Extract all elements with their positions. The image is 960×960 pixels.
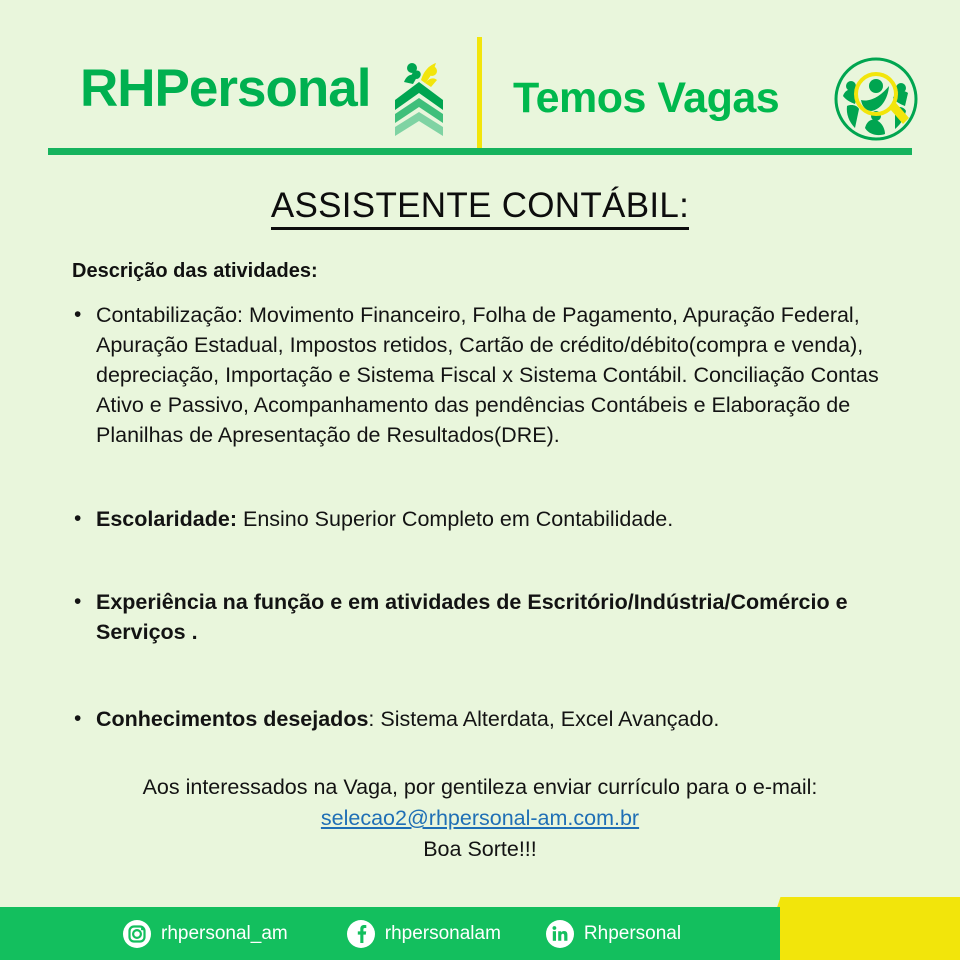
- social-link-facebook[interactable]: rhpersonalam: [346, 919, 501, 949]
- list-item-body: Ensino Superior Completo em Contabilidad…: [237, 507, 673, 531]
- page-title-text: ASSISTENTE CONTÁBIL:: [271, 186, 689, 230]
- list-item-text: Experiência na função e em atividades de…: [96, 587, 890, 647]
- social-links: rhpersonal_am rhpersonalam Rhpersona: [0, 907, 760, 960]
- list-item: • Experiência na função e em atividades …: [70, 587, 890, 647]
- social-handle-facebook: rhpersonalam: [385, 923, 501, 945]
- bullet-marker: •: [70, 300, 96, 330]
- footer-accent-shape: [760, 897, 960, 960]
- list-item-text: Contabilização: Movimento Financeiro, Fo…: [96, 300, 890, 450]
- list-item: • Conhecimentos desejados: Sistema Alter…: [70, 704, 890, 734]
- social-link-instagram[interactable]: rhpersonal_am: [122, 919, 288, 949]
- linkedin-icon: [545, 919, 575, 949]
- page-title: ASSISTENTE CONTÁBIL:: [0, 186, 960, 226]
- list-item-lead: Experiência na função e em atividades de…: [96, 590, 848, 644]
- list-item-body: : Sistema Alterdata, Excel Avançado.: [368, 707, 719, 731]
- social-handle-instagram: rhpersonal_am: [161, 923, 288, 945]
- header-rule: [48, 148, 912, 155]
- bullet-marker: •: [70, 587, 96, 617]
- facebook-icon: [346, 919, 376, 949]
- requirements-list: • Contabilização: Movimento Financeiro, …: [70, 300, 890, 734]
- list-item-lead: Conhecimentos desejados: [96, 707, 368, 731]
- list-item-text: Conhecimentos desejados: Sistema Alterda…: [96, 704, 890, 734]
- job-posting-poster: RHPersonal Temos Vagas: [0, 0, 960, 960]
- poster-header: RHPersonal Temos Vagas: [0, 0, 960, 155]
- instagram-icon: [122, 919, 152, 949]
- list-item: • Escolaridade: Ensino Superior Completo…: [70, 504, 890, 534]
- closing-block: Aos interessados na Vaga, por gentileza …: [110, 772, 850, 865]
- list-item-text: Escolaridade: Ensino Superior Completo e…: [96, 504, 890, 534]
- header-tagline: Temos Vagas: [513, 74, 779, 123]
- brand-name: RHPersonal: [80, 62, 370, 115]
- tree-chevron-people-icon: [391, 56, 447, 138]
- contact-email-link[interactable]: selecao2@rhpersonal-am.com.br: [321, 803, 639, 834]
- bullet-marker: •: [70, 704, 96, 734]
- social-handle-linkedin: Rhpersonal: [584, 923, 681, 945]
- brand-lockup: RHPersonal: [80, 62, 370, 115]
- list-item: • Contabilização: Movimento Financeiro, …: [70, 300, 890, 450]
- closing-wish: Boa Sorte!!!: [110, 834, 850, 865]
- section-heading: Descrição das atividades:: [72, 260, 318, 283]
- magnifier-people-badge-icon: [833, 56, 919, 142]
- closing-instruction: Aos interessados na Vaga, por gentileza …: [110, 772, 850, 803]
- list-item-lead: Escolaridade:: [96, 507, 237, 531]
- header-divider: [477, 37, 482, 152]
- social-link-linkedin[interactable]: Rhpersonal: [545, 919, 681, 949]
- bullet-marker: •: [70, 504, 96, 534]
- list-item-body: Contabilização: Movimento Financeiro, Fo…: [96, 303, 879, 447]
